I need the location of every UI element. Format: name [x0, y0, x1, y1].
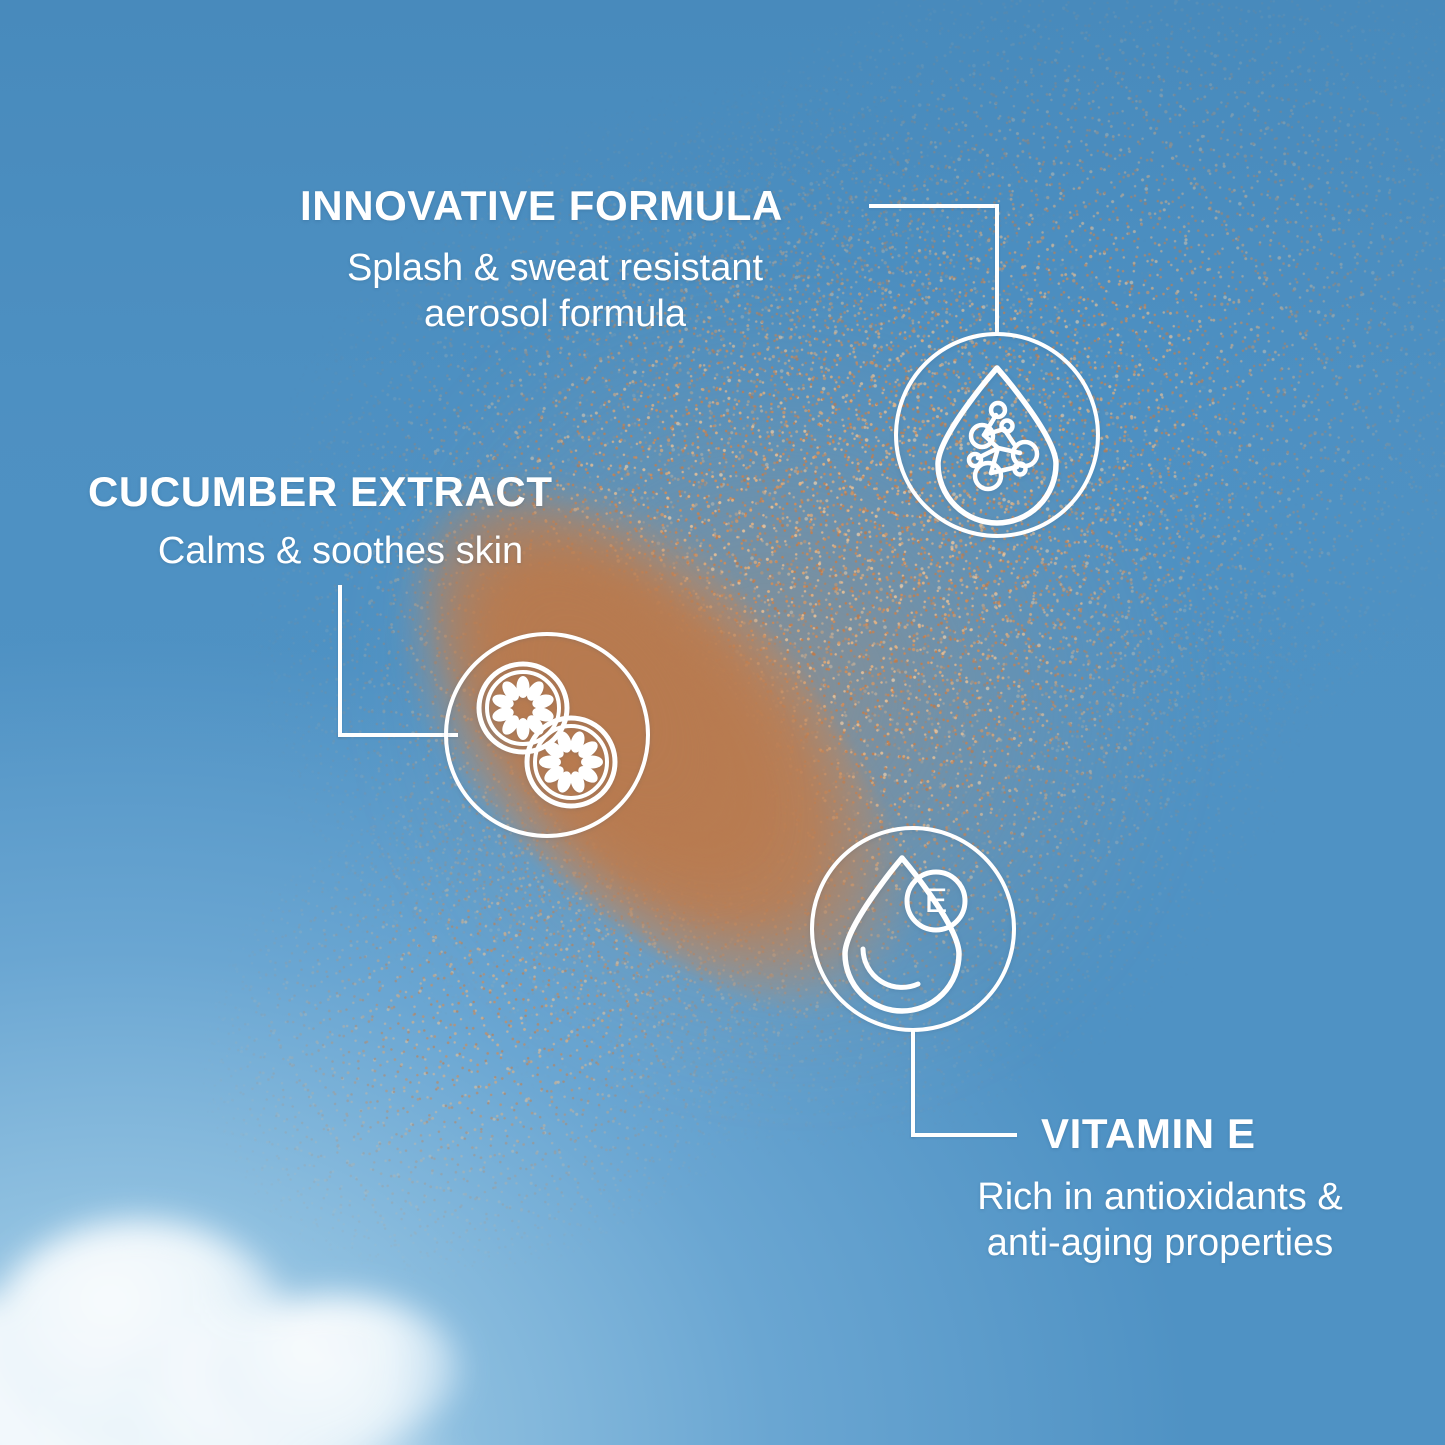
- product-infographic: INNOVATIVE FORMULA Splash & sweat resist…: [0, 0, 1445, 1445]
- callout-subtitle-line: anti-aging properties: [950, 1220, 1370, 1266]
- callout-subtitle-line: Rich in antioxidants &: [950, 1174, 1370, 1220]
- connector-line-horizontal-innovative-formula: [869, 204, 999, 208]
- callout-subtitle-line: aerosol formula: [300, 291, 810, 337]
- cucumber-slice: [527, 718, 615, 806]
- connector-line-vertical-cucumber-extract: [338, 585, 342, 737]
- icon-circle-vitamin-e: E: [810, 826, 1016, 1032]
- connector-line-horizontal-cucumber-extract: [338, 733, 458, 737]
- vitamin-e-badge-label: E: [925, 882, 948, 920]
- callout-subtitle-vitamin-e: Rich in antioxidants & anti-aging proper…: [950, 1174, 1370, 1266]
- connector-line-horizontal-vitamin-e: [911, 1133, 1017, 1137]
- droplet-vitamin-e-icon: E: [814, 830, 1012, 1028]
- callout-subtitle-line: Splash & sweat resistant: [300, 245, 810, 291]
- icon-circle-cucumber-extract: [444, 632, 650, 838]
- callout-title-cucumber-extract: CUCUMBER EXTRACT: [88, 468, 553, 516]
- connector-line-vertical-vitamin-e: [911, 1030, 915, 1137]
- connector-line-vertical-innovative-formula: [995, 204, 999, 336]
- cucumber-slices-icon: [448, 636, 646, 834]
- droplet-molecule-icon: [898, 336, 1096, 534]
- callout-title-innovative-formula: INNOVATIVE FORMULA: [300, 182, 783, 230]
- callout-subtitle-line: Calms & soothes skin: [88, 528, 593, 574]
- callout-subtitle-cucumber-extract: Calms & soothes skin: [88, 528, 593, 574]
- icon-circle-innovative-formula: [894, 332, 1100, 538]
- callout-title-vitamin-e: VITAMIN E: [1041, 1110, 1256, 1158]
- cucumber-slice: [479, 664, 567, 752]
- vitamin-e-badge: E: [907, 872, 965, 930]
- callout-subtitle-innovative-formula: Splash & sweat resistant aerosol formula: [300, 245, 810, 337]
